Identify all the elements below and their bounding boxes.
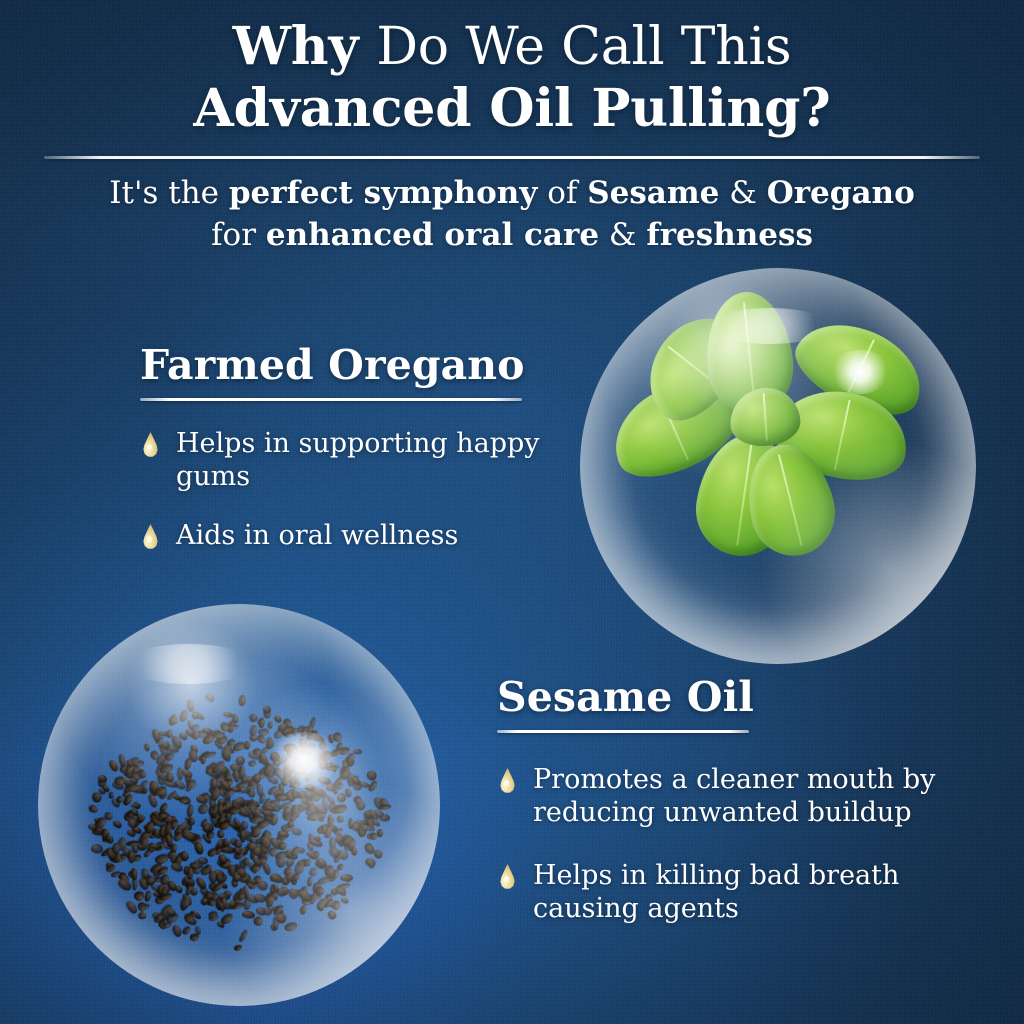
sesame-seed-pile-illustration: [38, 604, 440, 1006]
sesame-seed: [365, 857, 376, 869]
sesame-seed: [137, 902, 147, 912]
benefit-list-sesame: Promotes a cleaner mouth by reducing unw…: [497, 763, 957, 925]
subheadline-line-2: for enhanced oral care & freshness: [0, 214, 1024, 256]
subheadline-l1-part6: Oregano: [767, 175, 915, 211]
section-sesame-oil: Sesame Oil Promotes a cleaner mouth by r…: [497, 672, 957, 925]
section-farmed-oregano: Farmed Oregano Helps in supporting happy…: [140, 340, 540, 552]
sesame-seed: [327, 909, 338, 921]
sesame-seed: [171, 843, 179, 853]
sesame-seed: [197, 803, 211, 817]
sesame-seed: [189, 933, 199, 941]
sesame-seed: [139, 770, 147, 779]
sesame-seed: [187, 803, 194, 817]
sesame-seed: [188, 817, 195, 825]
sesame-seed: [328, 734, 334, 743]
list-item: Aids in oral wellness: [140, 519, 540, 552]
benefit-text: Promotes a cleaner mouth by reducing unw…: [533, 764, 935, 828]
sesame-seed: [365, 768, 378, 781]
sesame-seed: [318, 741, 328, 751]
subheadline-l2-part3: &: [599, 217, 646, 253]
section-title-oregano: Farmed Oregano: [140, 340, 540, 390]
sesame-seed: [173, 778, 187, 791]
subheadline-l2-part2: enhanced oral care: [266, 217, 599, 253]
sesame-seed: [340, 896, 349, 904]
benefit-list-oregano: Helps in supporting happy gums Aids in o…: [140, 427, 540, 552]
sesame-seed: [105, 833, 111, 843]
section-title-underline-sesame: [497, 730, 749, 733]
sesame-seed: [88, 804, 99, 814]
sesame-seed: [337, 815, 344, 822]
sesame-seed: [117, 877, 133, 892]
subheadline: It's the perfect symphony of Sesame & Or…: [0, 172, 1024, 256]
sesame-seed: [308, 866, 318, 877]
headline-do-we-call-this: Do We Call This: [376, 17, 791, 77]
sesame-seed: [257, 879, 270, 891]
sesame-seed: [104, 811, 114, 820]
page-title: Why Do We Call This Advanced Oil Pulling…: [0, 0, 1024, 140]
subheadline-line-1: It's the perfect symphony of Sesame & Or…: [0, 172, 1024, 214]
benefit-text: Aids in oral wellness: [176, 520, 458, 551]
sesame-seed: [241, 910, 255, 919]
sesame-seed: [112, 819, 123, 829]
sesame-seed: [198, 856, 208, 864]
sesame-seed: [144, 890, 153, 902]
sesame-seed: [204, 692, 216, 704]
sesame-seed: [373, 848, 384, 859]
oregano-leaves-illustration: [580, 268, 976, 664]
sesame-seed: [345, 788, 353, 798]
list-item: Helps in supporting happy gums: [140, 427, 540, 493]
sesame-seed: [256, 734, 267, 745]
sesame-seed: [183, 830, 197, 842]
section-title-underline-oregano: [140, 398, 522, 401]
benefit-text: Helps in killing bad breath causing agen…: [533, 860, 899, 924]
sesame-seed: [133, 890, 145, 901]
list-item: Promotes a cleaner mouth by reducing unw…: [497, 763, 957, 829]
oil-drop-icon: [499, 864, 516, 889]
oil-drop-icon: [499, 768, 516, 793]
sesame-seed: [187, 866, 193, 879]
list-item: Helps in killing bad breath causing agen…: [497, 859, 957, 925]
sesame-seed: [238, 695, 247, 707]
sesame-seed: [299, 905, 307, 915]
headline-line-1: Why Do We Call This: [0, 16, 1024, 78]
sesame-seed: [245, 740, 251, 750]
sesame-seed: [180, 850, 190, 861]
subheadline-l1-part3: of: [537, 175, 587, 211]
sesame-seed: [256, 783, 263, 796]
sesame-seed: [143, 743, 150, 752]
sesame-seed: [291, 826, 302, 835]
sesame-seed: [163, 922, 172, 929]
sesame-seed: [108, 759, 120, 772]
benefit-text: Helps in supporting happy gums: [176, 428, 540, 492]
sesame-seed: [318, 876, 333, 886]
headline-why: Why: [233, 16, 359, 77]
sesame-seed: [266, 737, 274, 750]
subheadline-l1-part4: Sesame: [587, 175, 719, 211]
headline-line-2: Advanced Oil Pulling?: [0, 78, 1024, 140]
subheadline-l1-part2: perfect symphony: [229, 175, 538, 211]
sesame-seed: [222, 711, 233, 718]
sesame-seed: [171, 924, 184, 939]
section-title-sesame: Sesame Oil: [497, 672, 957, 722]
sesame-bubble-image: [38, 604, 440, 1006]
sesame-seed: [170, 861, 184, 873]
oil-drop-icon: [142, 432, 159, 457]
sesame-seed: [306, 876, 313, 887]
subheadline-l2-part1: for: [211, 217, 266, 253]
sesame-seed: [193, 731, 200, 739]
sesame-seed: [186, 699, 195, 711]
infographic-poster: Why Do We Call This Advanced Oil Pulling…: [0, 0, 1024, 1024]
sesame-seed: [283, 921, 298, 933]
sesame-seed: [377, 829, 384, 838]
subheadline-l1-part1: It's the: [109, 175, 229, 211]
sesame-seed: [268, 721, 273, 729]
sesame-seed: [233, 714, 240, 724]
sesame-seed: [353, 748, 362, 753]
sesame-seed: [221, 746, 231, 760]
sesame-seed: [367, 779, 379, 792]
sesame-seed: [218, 830, 225, 839]
sesame-seed: [247, 760, 257, 768]
oil-drop-icon: [142, 524, 159, 549]
sesame-seed: [290, 782, 300, 788]
sesame-seed: [234, 945, 243, 952]
oregano-bubble-image: [580, 268, 976, 664]
sesame-seed: [238, 929, 249, 943]
sesame-seed: [194, 841, 205, 855]
subheadline-l1-part5: &: [719, 175, 766, 211]
sesame-seed: [337, 793, 347, 802]
sesame-seed: [124, 899, 138, 915]
sesame-seed: [326, 765, 340, 772]
sesame-seed: [138, 912, 147, 920]
sesame-seed: [340, 874, 353, 882]
subheadline-l2-part4: freshness: [646, 217, 813, 253]
sesame-seed: [90, 843, 103, 853]
header-divider: [44, 156, 980, 159]
sesame-seed: [217, 803, 222, 816]
header: Why Do We Call This Advanced Oil Pulling…: [0, 0, 1024, 140]
